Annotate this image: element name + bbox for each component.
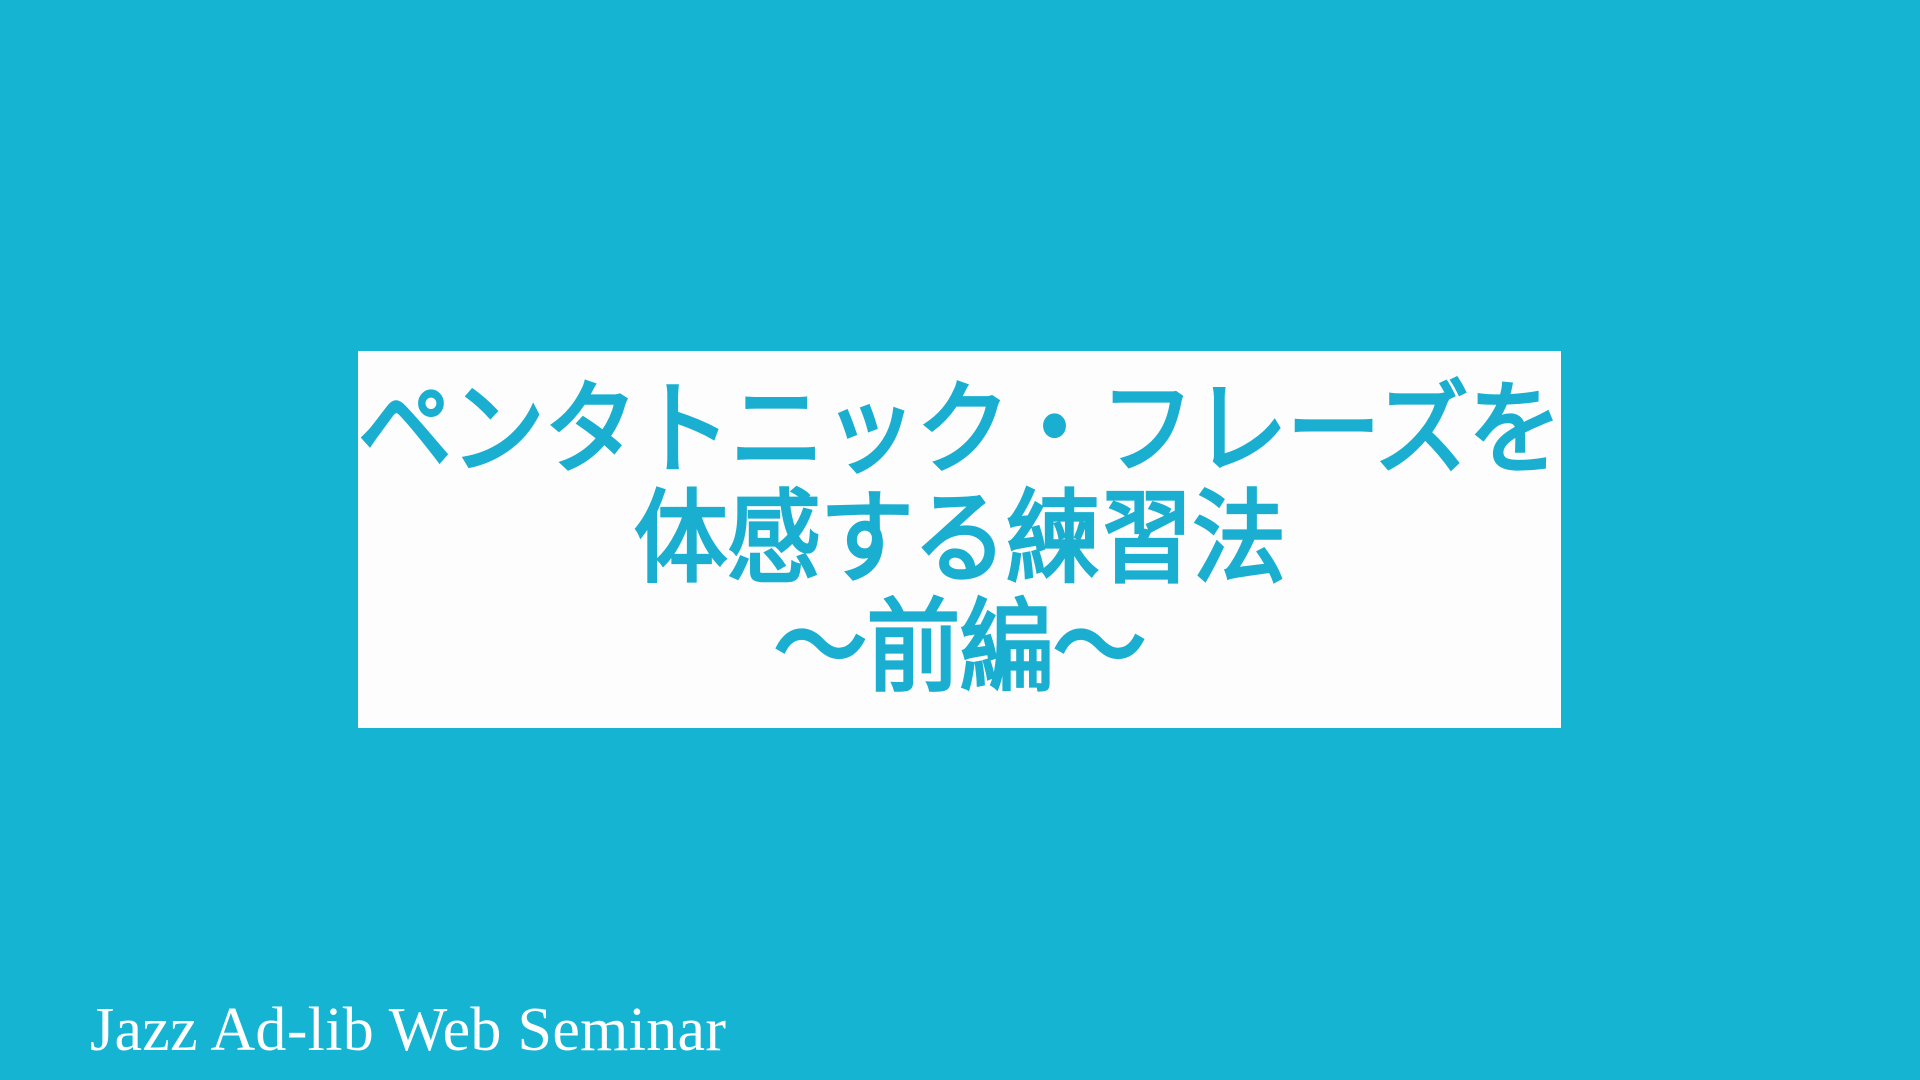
- title-line-1: ペンタトニック・フレーズを: [358, 372, 1561, 490]
- title-line-3: 〜前編〜: [773, 590, 1145, 708]
- title-panel: ペンタトニック・フレーズを 体感する練習法 〜前編〜: [358, 351, 1561, 728]
- slide-canvas: ペンタトニック・フレーズを 体感する練習法 〜前編〜 Jazz Ad-lib W…: [0, 0, 1920, 1080]
- seminar-series-label: Jazz Ad-lib Web Seminar: [90, 999, 726, 1061]
- title-text-stack: ペンタトニック・フレーズを 体感する練習法 〜前編〜: [358, 351, 1561, 728]
- title-line-2: 体感する練習法: [634, 481, 1285, 599]
